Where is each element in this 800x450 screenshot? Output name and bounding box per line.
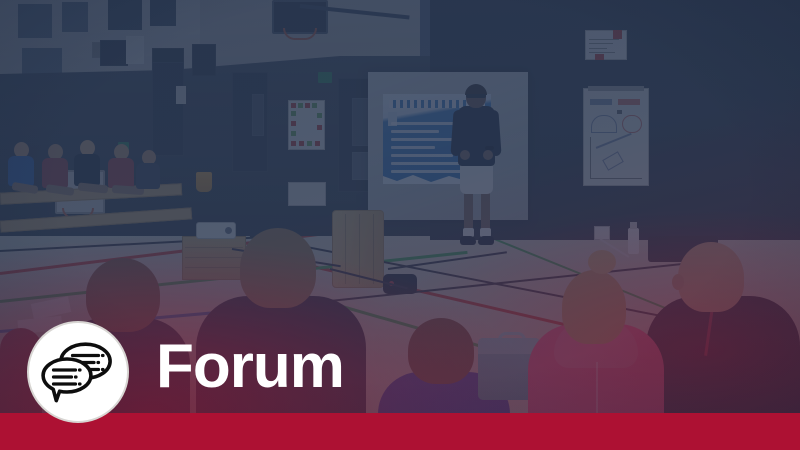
forum-banner: Forum xyxy=(0,0,800,450)
accent-bar xyxy=(0,413,800,450)
forum-logo-badge xyxy=(27,321,129,423)
speech-bubbles-icon xyxy=(41,341,115,403)
page-title: Forum xyxy=(156,336,344,398)
